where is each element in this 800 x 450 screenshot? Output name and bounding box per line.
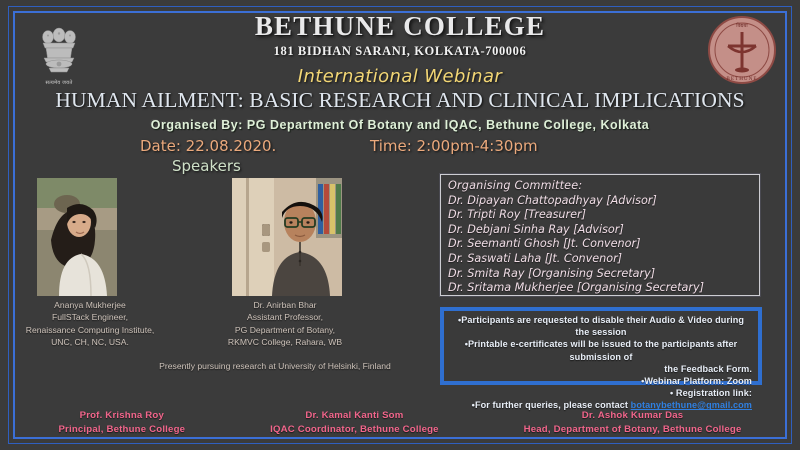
signatory-name: Dr. Kamal Kanti Som	[270, 409, 439, 422]
note-item-platform: •Webinar Platform: Zoom	[450, 375, 752, 387]
speaker-location: UNC, CH, NC, USA.	[10, 336, 170, 348]
committee-member: Dr. Tripti Roy [Treasurer]	[448, 208, 759, 223]
emblem-motto-text: सत्यमेव जयते	[45, 80, 72, 86]
speaker-role: FullSTack Engineer,	[10, 311, 170, 323]
participant-notes-box: •Participants are requested to disable t…	[440, 307, 762, 385]
note-item: •Participants are requested to disable t…	[450, 314, 752, 338]
college-address: 181 BIDHAN SARANI, KOLKATA-700006	[100, 44, 700, 59]
event-date: Date: 22.08.2020.	[140, 137, 370, 155]
webinar-poster: सत्यमेव जयते विद्यया BETHUNE BETHUNE COL…	[0, 0, 800, 450]
page-title: HUMAN AILMENT: BASIC RESEARCH AND CLINIC…	[14, 88, 786, 113]
svg-text:विद्यया: विद्यया	[736, 22, 748, 29]
committee-title: Organising Committee:	[448, 179, 759, 194]
note-item-registration-link[interactable]: • Registration link:	[450, 387, 752, 399]
speakers-footnote: Presently pursuing research at Universit…	[110, 360, 440, 372]
bethune-college-seal-icon: विद्यया BETHUNE	[706, 14, 778, 86]
speaker-caption-ananya: Ananya Mukherjee FullSTack Engineer, Ren…	[10, 299, 170, 349]
speaker-affiliation: Renaissance Computing Institute,	[10, 324, 170, 336]
committee-member: Dr. Debjani Sinha Ray [Advisor]	[448, 223, 759, 238]
speakers-heading: Speakers	[172, 157, 241, 175]
signatories-row: Prof. Krishna Roy Principal, Bethune Col…	[16, 409, 784, 436]
committee-member: Dr. Smita Ray [Organising Secretary]	[448, 267, 759, 282]
event-time: Time: 2:00pm-4:30pm	[370, 137, 538, 155]
speaker-role: Assistant Professor,	[185, 311, 385, 323]
speaker-photo-anirban-bhar	[232, 178, 342, 296]
svg-text:BETHUNE: BETHUNE	[726, 76, 757, 82]
india-national-emblem-icon: सत्यमेव जयते	[28, 14, 90, 86]
signatory-iqac-coordinator: Dr. Kamal Kanti Som IQAC Coordinator, Be…	[270, 409, 439, 436]
speaker-name: Ananya Mukherjee	[10, 299, 170, 311]
signatory-name: Prof. Krishna Roy	[58, 409, 185, 422]
organised-by-line: Organised By: PG Department Of Botany an…	[29, 117, 770, 132]
committee-member: Dr. Sritama Mukherjee [Organising Secret…	[448, 281, 759, 296]
college-name: BETHUNE COLLEGE	[100, 12, 700, 41]
webinar-kind-label: International Webinar	[100, 66, 700, 87]
speaker-photo-ananya-mukherjee	[37, 178, 117, 296]
speaker-name: Dr. Anirban Bhar	[185, 299, 385, 311]
signatory-head-of-botany: Dr. Ashok Kumar Das Head, Department of …	[524, 409, 742, 436]
note-item: •Printable e-certificates will be issued…	[450, 338, 752, 362]
signatory-principal: Prof. Krishna Roy Principal, Bethune Col…	[58, 409, 185, 436]
speaker-caption-anirban: Dr. Anirban Bhar Assistant Professor, PG…	[185, 299, 385, 349]
signatory-role: Head, Department of Botany, Bethune Coll…	[524, 423, 742, 436]
note-item: the Feedback Form.	[450, 363, 752, 375]
committee-member: Dr. Dipayan Chattopadhyay [Advisor]	[448, 194, 759, 209]
organising-committee-box: Organising Committee: Dr. Dipayan Chatto…	[440, 174, 760, 296]
signatory-name: Dr. Ashok Kumar Das	[524, 409, 742, 422]
signatory-role: Principal, Bethune College	[58, 423, 185, 436]
speaker-department: PG Department of Botany,	[185, 324, 385, 336]
speaker-affiliation: RKMVC College, Rahara, WB	[185, 336, 385, 348]
signatory-role: IQAC Coordinator, Bethune College	[270, 423, 439, 436]
schedule-row: Date: 22.08.2020. Time: 2:00pm-4:30pm	[140, 137, 640, 155]
poster-header: BETHUNE COLLEGE 181 BIDHAN SARANI, KOLKA…	[100, 12, 700, 87]
committee-member: Dr. Seemanti Ghosh [Jt. Convenor]	[448, 237, 759, 252]
committee-member: Dr. Saswati Laha [Jt. Convenor]	[448, 252, 759, 267]
